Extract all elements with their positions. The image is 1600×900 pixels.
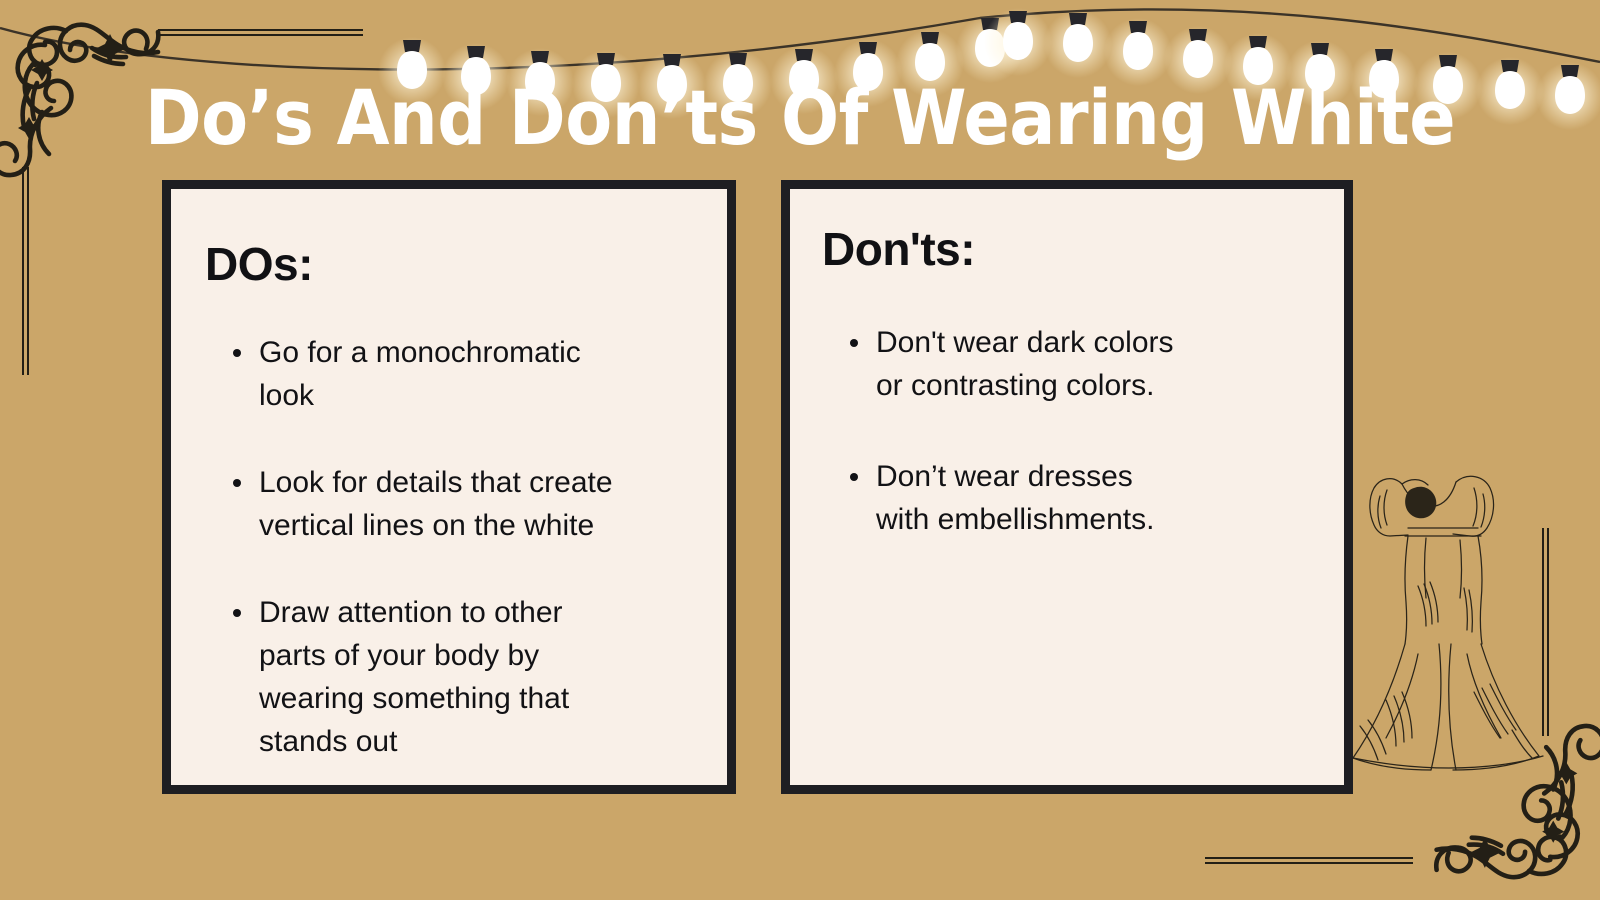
- list-item: Look for details that create vertical li…: [231, 461, 701, 547]
- panel-dos: DOs: Go for a monochromatic look Look fo…: [162, 180, 736, 794]
- panel-dos-list: Go for a monochromatic look Look for det…: [231, 331, 701, 763]
- list-item: Draw attention to other parts of your bo…: [231, 591, 701, 763]
- panel-donts: Don'ts: Don't wear dark colors or contra…: [781, 180, 1353, 794]
- decor-rule-top: [158, 29, 363, 36]
- list-item: Don't wear dark colors or contrasting co…: [848, 321, 1298, 407]
- corner-flourish-bottom-right-icon: [1418, 712, 1600, 898]
- list-item: Don’t wear dresses with embellishments.: [848, 455, 1298, 541]
- list-item: Go for a monochromatic look: [231, 331, 701, 417]
- decor-rule-left: [22, 167, 29, 375]
- panel-donts-heading: Don'ts:: [822, 222, 1344, 276]
- poster-canvas: Do’s And Don’ts Of Wearing White DOs: Go…: [0, 0, 1600, 900]
- decor-rule-bottom: [1205, 857, 1413, 864]
- panel-dos-heading: DOs:: [205, 237, 727, 291]
- panel-donts-list: Don't wear dark colors or contrasting co…: [848, 321, 1298, 541]
- page-title: Do’s And Don’ts Of Wearing White: [0, 80, 1600, 156]
